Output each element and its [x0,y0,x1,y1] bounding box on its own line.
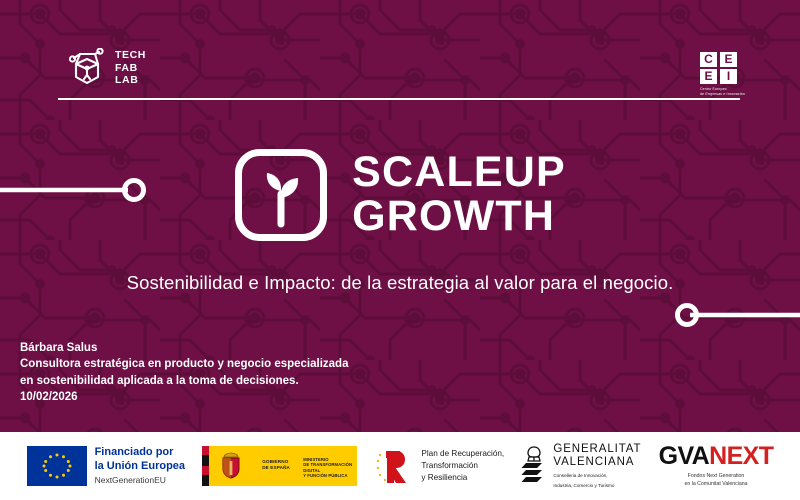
gva-next-word-red: NEXT [709,444,773,469]
slide-subtitle: Sostenibilidad e Impacto: de la estrateg… [0,272,800,294]
generalitat-text: GENERALITAT VALENCIANA Conselleria de In… [553,443,641,489]
gva-next-word-black: GVA [659,444,710,469]
ceei-logo: C E E I Centro Europeo de Empresas e Inn… [700,52,750,97]
sprout-in-rounded-square-icon [234,148,328,242]
gobierno-logo-plate: GOBIERNODE ESPAÑA MINISTERIODE TRANSFORM… [202,446,357,486]
cube-node-icon [66,48,108,88]
generalitat-line-2: VALENCIANA [553,456,641,469]
ceei-letter-c: C [700,52,717,67]
ministerio-text-block: MINISTERIODE TRANSFORMACIÓN DIGITALY FUN… [303,457,357,479]
eu-line-3: NextGenerationEU [95,475,185,486]
techfablab-line-1: TECH [115,49,146,61]
techfablab-wordmark: TECH FAB LAB [115,49,146,86]
ceei-subtitle: Centro Europeo de Empresas e Innovación [700,87,745,97]
gobierno-text-block: GOBIERNODE ESPAÑA [262,459,290,471]
gva-next-logo: GVA NEXT Fondos Next Generation en la Co… [659,444,774,489]
prtr-r-monogram-icon [374,446,414,486]
generalitat-valenciana-logo: GENERALITAT VALENCIANA Conselleria de In… [521,443,641,489]
speaker-role-line-2: en sostenibilidad aplicada a la toma de … [20,373,348,389]
brand-wordmark: SCALEUP GROWTH [352,151,566,239]
eu-line-2: la Unión Europea [95,460,185,474]
conselleria-line-2: Industria, Comercio y Turismo [553,482,641,489]
speaker-role-line-1: Consultora estratégica en producto y neg… [20,356,348,372]
ceei-letter-i: I [720,69,737,84]
speaker-date: 10/02/2026 [20,389,348,405]
plan-recuperacion-logo: Plan de Recuperación, Transformación y R… [374,446,504,486]
presentation-slide: TECH FAB LAB C E E I Centro Europeo de E… [0,0,800,500]
gva-next-sub-line-2: en la Comunitat Valenciana [684,480,747,488]
gva-next-wordmark: GVA NEXT [659,444,774,469]
prtr-line-3: y Resiliencia [421,472,504,484]
ceei-row-bottom: E I [700,69,737,84]
speaker-info-block: Bárbara Salus Consultora estratégica en … [20,340,348,405]
techfablab-line-2: FAB [115,62,146,74]
brand-title-line-1: SCALEUP [352,151,566,195]
funding-logos-footer: Financiado por la Unión Europea NextGene… [0,432,800,500]
techfablab-logo: TECH FAB LAB [66,48,146,88]
ceei-letter-e1: E [720,52,737,67]
eu-flag-icon [27,446,87,486]
conselleria-line-1: Conselleria de Innovación, [553,472,641,479]
speaker-name: Bárbara Salus [20,340,348,356]
spain-flag-stripe [202,446,209,486]
brand-title-line-2: GROWTH [352,195,566,239]
circuit-trace-right-decoration [672,303,800,327]
header-divider-rule [58,98,740,100]
generalitat-crest-icon [521,445,547,487]
brand-title-block: SCALEUP GROWTH [0,148,800,242]
eu-funding-logo: Financiado por la Unión Europea NextGene… [27,446,185,486]
prtr-line-2: Transformación [421,460,504,472]
ceei-subtitle-line-2: de Empresas e Innovación [700,92,745,97]
ceei-row-top: C E [700,52,737,67]
techfablab-line-3: LAB [115,74,146,86]
slide-header: TECH FAB LAB C E E I Centro Europeo de E… [0,0,800,100]
gva-next-subtitle: Fondos Next Generation en la Comunitat V… [684,472,747,489]
eu-line-1: Financiado por [95,446,185,460]
prtr-line-1: Plan de Recuperación, [421,448,504,460]
generalitat-line-1: GENERALITAT [553,443,641,456]
spain-coat-of-arms-icon [216,451,246,481]
ceei-letter-e2: E [700,69,717,84]
gobierno-de-espana-logo: GOBIERNODE ESPAÑA MINISTERIODE TRANSFORM… [202,446,357,486]
gva-next-sub-line-1: Fondos Next Generation [684,472,747,480]
plan-recuperacion-text: Plan de Recuperación, Transformación y R… [421,448,504,485]
eu-funding-text: Financiado por la Unión Europea NextGene… [95,446,185,486]
